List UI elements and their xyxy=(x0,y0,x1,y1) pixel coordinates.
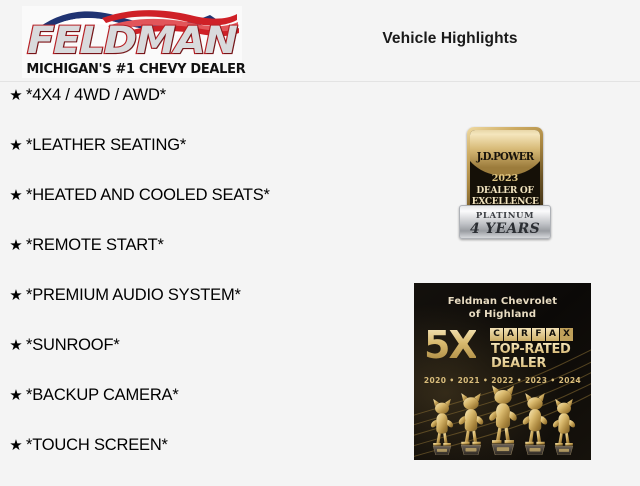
carfax-letter: R xyxy=(518,328,531,341)
dealer-tagline: MICHIGAN'S #1 CHEVY DEALER xyxy=(26,61,237,77)
highlight-label: *BACKUP CAMERA* xyxy=(26,386,179,405)
highlight-label: *HEATED AND COOLED SEATS* xyxy=(26,186,270,205)
list-item: ★ *SUNROOF* xyxy=(0,336,400,386)
star-icon: ★ xyxy=(6,438,26,453)
feldman-wordmark-text: FELDMAN xyxy=(13,22,251,60)
highlight-label: *REMOTE START* xyxy=(26,236,164,255)
star-icon: ★ xyxy=(6,388,26,403)
highlight-label: *LEATHER SEATING* xyxy=(26,136,186,155)
carfax-fox-trophy-icon xyxy=(521,391,549,460)
star-icon: ★ xyxy=(6,138,26,153)
carfax-letter: A xyxy=(546,328,559,341)
feldman-dealer-logo[interactable]: FELDMAN MICHIGAN'S #1 CHEVY DEALER xyxy=(22,6,242,78)
list-item: ★ *PREMIUM AUDIO SYSTEM* xyxy=(0,286,400,336)
jd-power-plaque: J.D.POWER 2023 DEALER OF EXCELLENCE xyxy=(467,127,543,215)
page-title: Vehicle Highlights xyxy=(300,30,600,48)
list-item: ★ *HEATED AND COOLED SEATS* xyxy=(0,186,400,236)
jd-power-award-line1: DEALER OF xyxy=(472,185,539,196)
star-icon: ★ xyxy=(6,238,26,253)
jd-power-award-badge: J.D.POWER 2023 DEALER OF EXCELLENCE PLAT… xyxy=(459,127,551,239)
list-item: ★ *LEATHER SEATING* xyxy=(0,136,400,186)
star-icon: ★ xyxy=(6,88,26,103)
highlight-label: *SUNROOF* xyxy=(26,336,120,355)
vehicle-highlights-list: ★ *4X4 / 4WD / AWD* ★ *LEATHER SEATING* … xyxy=(0,86,400,486)
carfax-dealer-name: Feldman Chevrolet of Highland xyxy=(414,295,591,321)
carfax-multiplier: 5X xyxy=(424,326,476,364)
jd-power-base: PLATINUM 4 YEARS xyxy=(459,205,551,239)
carfax-letter: F xyxy=(532,328,545,341)
star-icon: ★ xyxy=(6,288,26,303)
highlight-label: *4X4 / 4WD / AWD* xyxy=(26,86,166,105)
carfax-award-line2: DEALER xyxy=(491,357,546,371)
carfax-fox-trophy-icon xyxy=(487,383,519,460)
page-header: FELDMAN MICHIGAN'S #1 CHEVY DEALER Vehic… xyxy=(0,0,640,82)
carfax-dealer-name-line2: of Highland xyxy=(469,309,536,320)
list-item: ★ *REMOTE START* xyxy=(0,236,400,286)
carfax-fox-trophy-icon xyxy=(551,397,577,460)
highlight-label: *TOUCH SCREEN* xyxy=(26,436,168,455)
star-icon: ★ xyxy=(6,188,26,203)
list-item: ★ *TOUCH SCREEN* xyxy=(0,436,400,486)
carfax-brand-logo: C A R F A X xyxy=(490,328,573,341)
carfax-trophy-row xyxy=(414,387,591,460)
carfax-letter: C xyxy=(490,328,503,341)
list-item: ★ *4X4 / 4WD / AWD* xyxy=(0,86,400,136)
jd-power-plaque-inner: J.D.POWER 2023 DEALER OF EXCELLENCE xyxy=(470,130,540,212)
carfax-letter: X xyxy=(560,328,573,341)
star-icon: ★ xyxy=(6,338,26,353)
list-item: ★ *BACKUP CAMERA* xyxy=(0,386,400,436)
carfax-dealer-name-line1: Feldman Chevrolet xyxy=(448,296,558,307)
jd-power-duration: 4 YEARS xyxy=(460,221,550,237)
jd-power-tier: PLATINUM xyxy=(460,211,550,221)
highlight-label: *PREMIUM AUDIO SYSTEM* xyxy=(26,286,241,305)
carfax-award-line1: TOP-RATED xyxy=(491,343,571,357)
carfax-letter: A xyxy=(504,328,517,341)
jd-power-year: 2023 xyxy=(470,173,540,184)
carfax-fox-trophy-icon xyxy=(429,397,455,460)
feldman-wordmark: FELDMAN xyxy=(22,22,242,60)
carfax-fox-trophy-icon xyxy=(457,391,485,460)
carfax-top-rated-dealer-badge: Feldman Chevrolet of Highland 5X C A R F… xyxy=(414,283,591,460)
jd-power-brand-text: J.D.POWER xyxy=(473,150,537,163)
